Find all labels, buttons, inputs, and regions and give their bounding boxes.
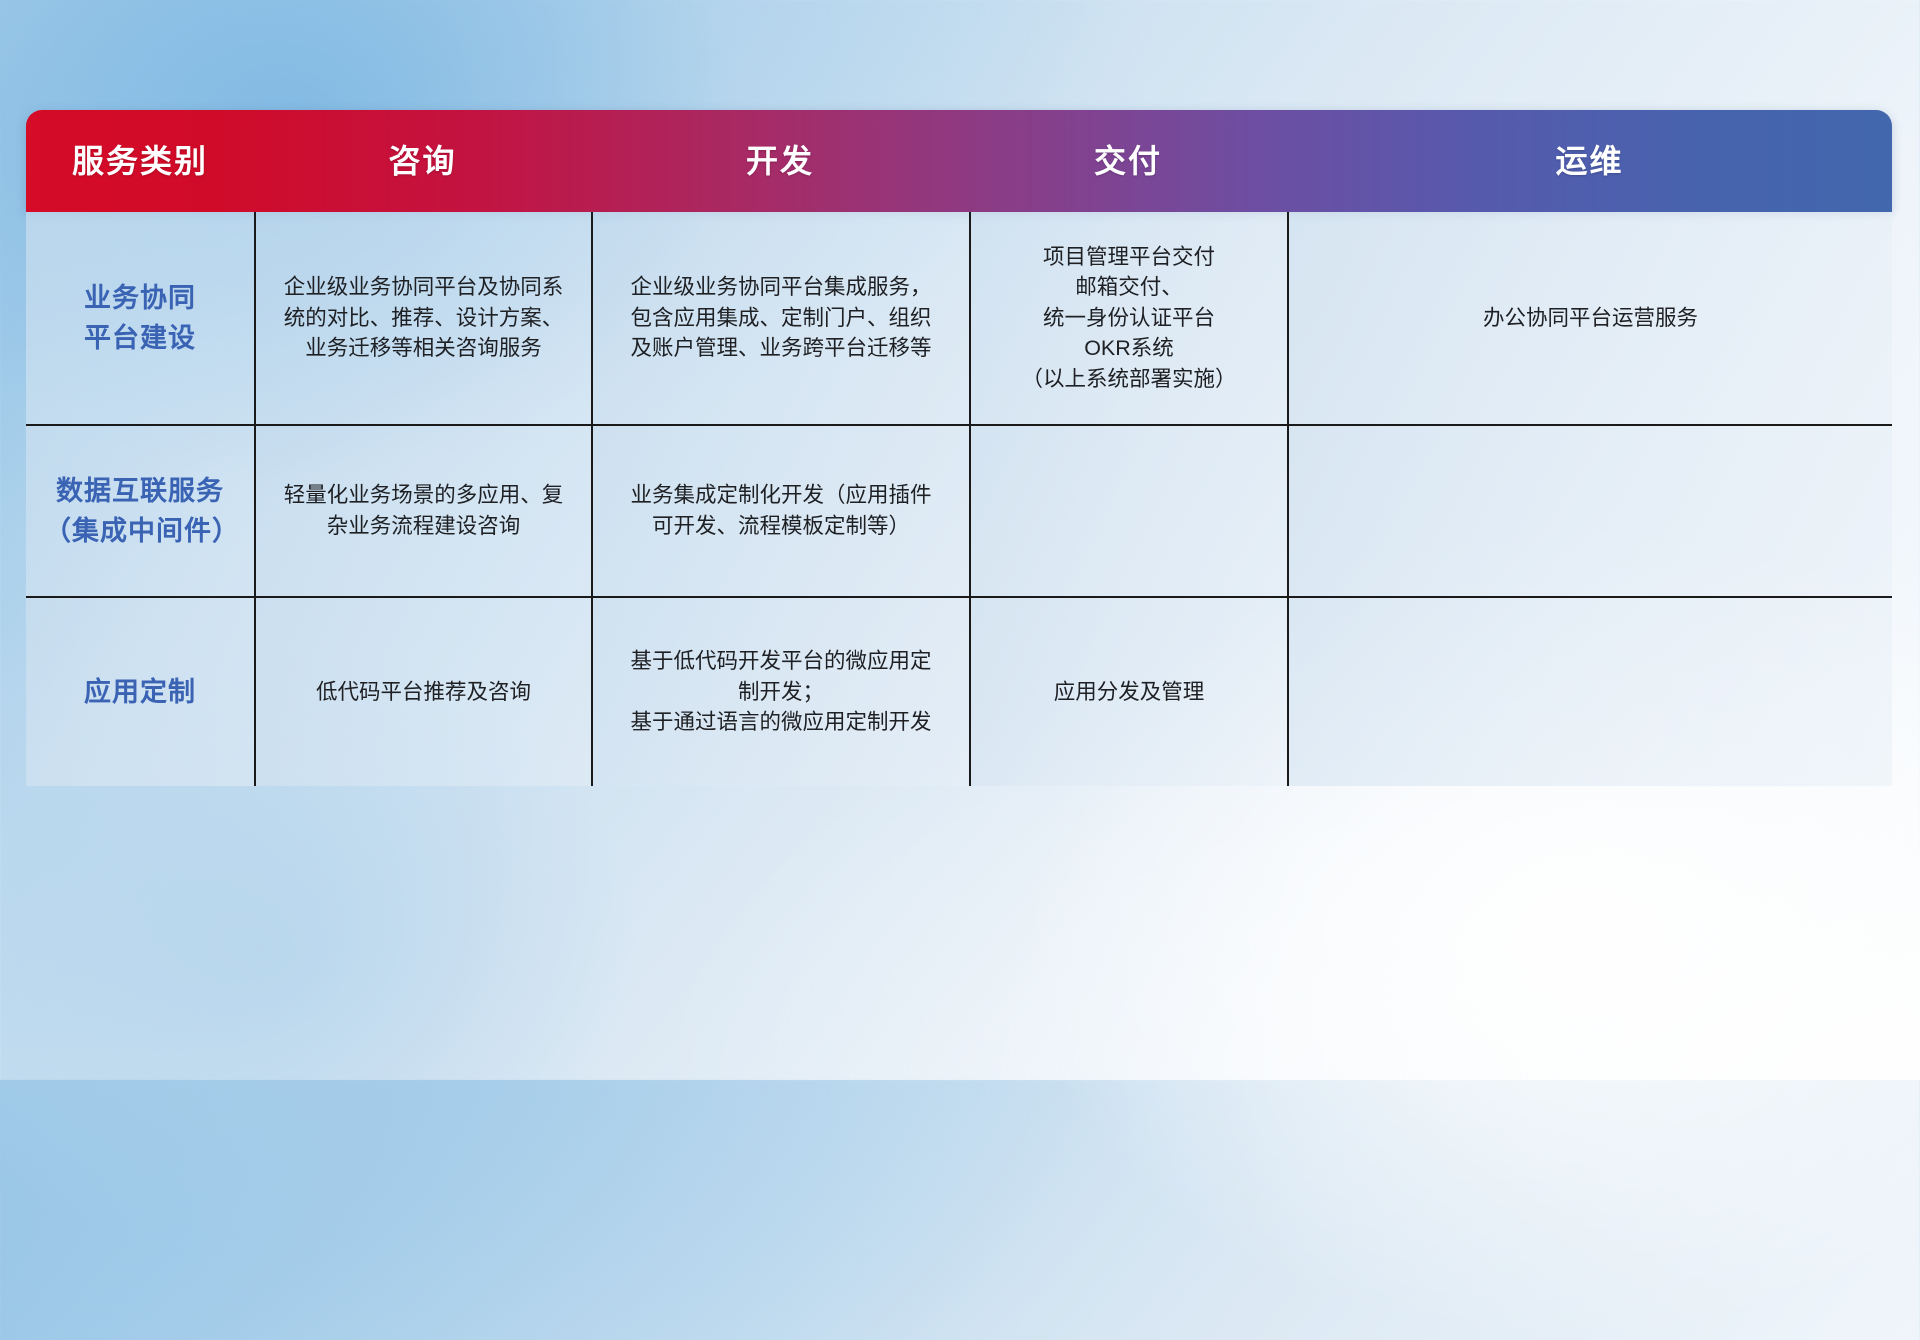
column-header-development: 开发 [591,145,969,177]
cell-delivery-row2 [969,424,1287,596]
row-label-business-collaboration: 业务协同 平台建设 [26,212,254,424]
column-header-delivery: 交付 [969,145,1287,177]
cell-operations-row3 [1287,596,1892,786]
cell-delivery-row3: 应用分发及管理 [969,596,1287,786]
cell-delivery-row1: 项目管理平台交付 邮箱交付、 统一身份认证平台 OKR系统 （以上系统部署实施） [969,212,1287,424]
cell-operations-row1: 办公协同平台运营服务 [1287,212,1892,424]
table-body: 业务协同 平台建设 企业级业务协同平台及协同系 统的对比、推荐、设计方案、 业务… [26,212,1892,786]
table-row: 应用定制 低代码平台推荐及咨询 基于低代码开发平台的微应用定 制开发； 基于通过… [26,596,1892,786]
table-row: 数据互联服务 （集成中间件） 轻量化业务场景的多应用、复 杂业务流程建设咨询 业… [26,424,1892,596]
service-matrix-table: 服务类别 咨询 开发 交付 运维 业务协同 平台建设 企业级业务协同平台及协同系… [26,110,1892,786]
table-row: 业务协同 平台建设 企业级业务协同平台及协同系 统的对比、推荐、设计方案、 业务… [26,212,1892,424]
cell-consulting-row2: 轻量化业务场景的多应用、复 杂业务流程建设咨询 [254,424,591,596]
cell-operations-row2 [1287,424,1892,596]
cell-development-row3: 基于低代码开发平台的微应用定 制开发； 基于通过语言的微应用定制开发 [591,596,969,786]
row-label-data-integration: 数据互联服务 （集成中间件） [26,424,254,596]
column-header-consulting: 咨询 [254,145,591,177]
cell-development-row2: 业务集成定制化开发（应用插件 可开发、流程模板定制等） [591,424,969,596]
cell-development-row1: 企业级业务协同平台集成服务， 包含应用集成、定制门户、组织 及账户管理、业务跨平… [591,212,969,424]
table-header-row: 服务类别 咨询 开发 交付 运维 [26,110,1892,212]
column-header-operations: 运维 [1287,145,1892,177]
column-header-category: 服务类别 [26,145,254,177]
cell-consulting-row1: 企业级业务协同平台及协同系 统的对比、推荐、设计方案、 业务迁移等相关咨询服务 [254,212,591,424]
cell-consulting-row3: 低代码平台推荐及咨询 [254,596,591,786]
row-label-app-customization: 应用定制 [26,596,254,786]
